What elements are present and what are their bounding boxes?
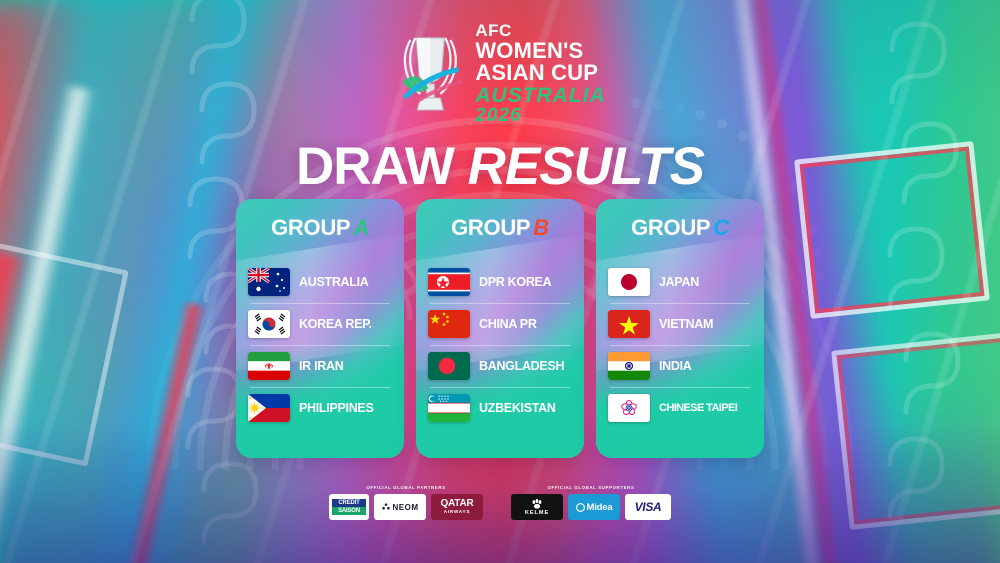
team-name: KOREA REP. bbox=[299, 317, 372, 331]
flag-japan-icon bbox=[608, 268, 650, 296]
sponsor-supporters-row: KELME Midea VISA bbox=[511, 494, 671, 520]
sponsor-group-partners: OFFICIAL GLOBAL PARTNERS CREDIT SAISON N… bbox=[329, 485, 483, 520]
group-c-letter: C bbox=[713, 215, 729, 240]
group-b-letter: B bbox=[533, 215, 549, 240]
group-b-team-list: DPR KOREA CHINA PR bbox=[428, 261, 572, 429]
team-row: PHILIPPINES bbox=[248, 387, 392, 429]
group-panel-b: GROUPB DPR KOREA bbox=[416, 199, 584, 458]
event-logo: AFC WOMEN'S ASIAN CUP AUSTRALIA 2026 bbox=[394, 22, 605, 125]
sponsor-logo-neom[interactable]: NEOM bbox=[374, 494, 426, 520]
team-name: INDIA bbox=[659, 359, 692, 373]
title-italic: RESULTS bbox=[468, 137, 704, 196]
group-panel-c: GROUPC JAPAN VIETNAM bbox=[596, 199, 764, 458]
group-c-heading: GROUPC bbox=[608, 215, 752, 241]
group-a-heading: GROUPA bbox=[248, 215, 392, 241]
page-title: DRAW RESULTS bbox=[0, 136, 1000, 197]
flag-australia-icon bbox=[248, 268, 290, 296]
credit-saison-line1: CREDIT bbox=[332, 499, 366, 507]
logo-line-afc: AFC bbox=[475, 22, 605, 39]
team-name: IR IRAN bbox=[299, 359, 343, 373]
flag-philippines-icon bbox=[248, 394, 290, 422]
flag-india-icon bbox=[608, 352, 650, 380]
logo-line-womens: WOMEN'S bbox=[475, 40, 605, 62]
neom-wordmark: NEOM bbox=[393, 503, 419, 512]
credit-saison-line2: SAISON bbox=[332, 507, 366, 515]
team-name: CHINESE TAIPEI bbox=[659, 402, 737, 414]
logo-line-asian-cup: ASIAN CUP bbox=[475, 62, 605, 84]
group-b-label: GROUP bbox=[451, 215, 530, 240]
sponsor-partners-row: CREDIT SAISON NEOM QATAR AIRWAYS bbox=[329, 494, 483, 520]
midea-mark-icon bbox=[576, 503, 585, 512]
sponsor-logo-midea[interactable]: Midea bbox=[568, 494, 620, 520]
qatar-line2: AIRWAYS bbox=[444, 510, 471, 515]
sponsor-logo-credit-saison[interactable]: CREDIT SAISON bbox=[329, 494, 369, 520]
team-row: CHINESE TAIPEI bbox=[608, 387, 752, 429]
neom-mark-icon bbox=[382, 503, 390, 511]
logo-line-australia: AUSTRALIA bbox=[475, 85, 605, 106]
team-name: JAPAN bbox=[659, 275, 699, 289]
team-row: DPR KOREA bbox=[428, 261, 572, 303]
team-name: PHILIPPINES bbox=[299, 401, 374, 415]
group-panel-a: GROUPA AUSTRALIA bbox=[236, 199, 404, 458]
team-name: UZBEKISTAN bbox=[479, 401, 556, 415]
team-name: AUSTRALIA bbox=[299, 275, 369, 289]
sponsor-bar: OFFICIAL GLOBAL PARTNERS CREDIT SAISON N… bbox=[329, 485, 671, 520]
trophy-icon bbox=[394, 24, 466, 124]
team-row: INDIA bbox=[608, 345, 752, 387]
team-name: CHINA PR bbox=[479, 317, 537, 331]
sponsor-logo-kelme[interactable]: KELME bbox=[511, 494, 563, 520]
team-row: UZBEKISTAN bbox=[428, 387, 572, 429]
group-panels: GROUPA AUSTRALIA bbox=[236, 199, 764, 458]
flag-dpr-korea-icon bbox=[428, 268, 470, 296]
team-row: BANGLADESH bbox=[428, 345, 572, 387]
midea-wordmark: Midea bbox=[587, 502, 613, 513]
flag-china-icon bbox=[428, 310, 470, 338]
logo-line-year: 2026 bbox=[475, 106, 605, 125]
sponsor-logo-qatar-airways[interactable]: QATAR AIRWAYS bbox=[431, 494, 483, 520]
team-row: CHINA PR bbox=[428, 303, 572, 345]
group-b-heading: GROUPB bbox=[428, 215, 572, 241]
sponsor-supporters-label: OFFICIAL GLOBAL SUPPORTERS bbox=[548, 485, 635, 490]
flag-vietnam-icon bbox=[608, 310, 650, 338]
team-row: JAPAN bbox=[608, 261, 752, 303]
team-row: IR IRAN bbox=[248, 345, 392, 387]
team-name: BANGLADESH bbox=[479, 359, 564, 373]
group-a-team-list: AUSTRALIA bbox=[248, 261, 392, 429]
team-name: DPR KOREA bbox=[479, 275, 551, 289]
flag-iran-icon bbox=[248, 352, 290, 380]
sponsor-partners-label: OFFICIAL GLOBAL PARTNERS bbox=[366, 485, 445, 490]
team-row: VIETNAM bbox=[608, 303, 752, 345]
flag-bangladesh-icon bbox=[428, 352, 470, 380]
team-name: VIETNAM bbox=[659, 317, 713, 331]
group-c-label: GROUP bbox=[631, 215, 710, 240]
flag-chinese-taipei-icon bbox=[608, 394, 650, 422]
group-a-label: GROUP bbox=[271, 215, 350, 240]
kelme-paw-icon bbox=[531, 499, 544, 509]
group-c-team-list: JAPAN VIETNAM bbox=[608, 261, 752, 429]
flag-uzbekistan-icon bbox=[428, 394, 470, 422]
visa-wordmark: VISA bbox=[635, 500, 662, 514]
kelme-wordmark: KELME bbox=[525, 510, 549, 516]
title-main: DRAW bbox=[296, 137, 468, 196]
sponsor-group-supporters: OFFICIAL GLOBAL SUPPORTERS KELME Midea V… bbox=[511, 485, 671, 520]
qatar-line1: QATAR bbox=[440, 499, 473, 509]
team-row: KOREA REP. bbox=[248, 303, 392, 345]
flag-korea-republic-icon bbox=[248, 310, 290, 338]
group-a-letter: A bbox=[353, 215, 369, 240]
team-row: AUSTRALIA bbox=[248, 261, 392, 303]
sponsor-logo-visa[interactable]: VISA bbox=[625, 494, 671, 520]
